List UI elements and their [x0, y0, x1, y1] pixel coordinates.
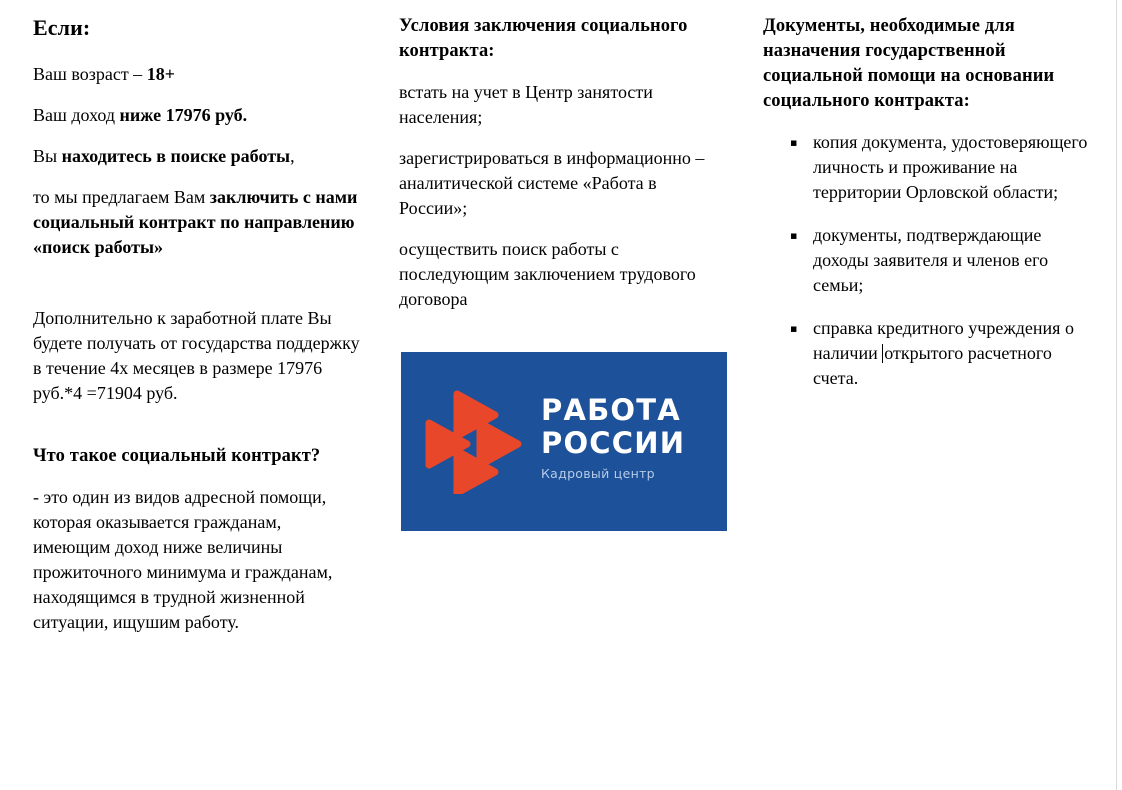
square-bullet-icon: ▪: [790, 130, 797, 155]
offer-statement: то мы предлагаем Вам заключить с нами со…: [33, 185, 363, 260]
term-item-3: осуществить поиск работы с последующим з…: [399, 237, 729, 312]
conditions-heading: Если:: [33, 14, 363, 42]
condition-income-value: ниже 17976 руб.: [120, 105, 248, 125]
column-conditions: Если: Ваш возраст – 18+ Ваш доход ниже 1…: [33, 14, 363, 635]
document-item-bank-account: ▪ справка кредитного учреждения о наличи…: [763, 316, 1093, 391]
documents-heading: Документы, необходимые для назначения го…: [763, 14, 1093, 114]
condition-income: Ваш доход ниже 17976 руб.: [33, 103, 363, 128]
term-item-1: встать на учет в Центр занятости населен…: [399, 80, 729, 130]
condition-age-label: Ваш возраст –: [33, 64, 147, 84]
document-item-income: ▪ документы, подтверждающие доходы заяви…: [763, 223, 1093, 298]
logo-line-rabota: РАБОТА: [541, 394, 721, 427]
logo-subtitle: Кадровый центр: [541, 466, 721, 482]
condition-age-value: 18+: [147, 64, 175, 84]
condition-jobsearch-value: находитесь в поиске работы: [62, 146, 291, 166]
documents-list: ▪ копия документа, удостоверяющего лично…: [763, 130, 1093, 391]
rabota-rossii-triangles-icon: [423, 390, 527, 494]
condition-age: Ваш возраст – 18+: [33, 62, 363, 87]
square-bullet-icon: ▪: [790, 223, 797, 248]
logo-line-rossii: РОССИИ: [541, 427, 721, 460]
condition-income-label: Ваш доход: [33, 105, 120, 125]
document-item-text: копия документа, удостоверяющего личност…: [813, 132, 1087, 202]
slide-canvas: Если: Ваш возраст – 18+ Ваш доход ниже 1…: [0, 0, 1122, 790]
spacer: [33, 276, 363, 306]
document-item-identity: ▪ копия документа, удостоверяющего лично…: [763, 130, 1093, 205]
document-item-text: документы, подтверждающие доходы заявите…: [813, 225, 1048, 295]
term-item-2: зарегистрироваться в информационно – ана…: [399, 146, 729, 221]
spacer: [33, 422, 363, 444]
page-edge-divider: [1116, 0, 1117, 790]
terms-heading: Условия заключения социального контракта…: [399, 14, 729, 64]
what-is-social-contract-paragraph: - это один из видов адресной помощи, кот…: [33, 485, 363, 635]
column-documents: Документы, необходимые для назначения го…: [763, 14, 1093, 391]
condition-jobsearch-label: Вы: [33, 146, 62, 166]
rabota-rossii-logo: РАБОТА РОССИИ Кадровый центр: [401, 352, 727, 531]
condition-jobsearch: Вы находитесь в поиске работы,: [33, 144, 363, 169]
condition-jobsearch-suffix: ,: [290, 146, 295, 166]
square-bullet-icon: ▪: [790, 316, 797, 341]
what-is-social-contract-heading: Что такое социальный контракт?: [33, 444, 363, 469]
column-terms: Условия заключения социального контракта…: [399, 14, 729, 312]
offer-statement-lead: то мы предлагаем Вам: [33, 187, 210, 207]
support-amount-paragraph: Дополнительно к заработной плате Вы буде…: [33, 306, 363, 406]
rabota-rossii-wordmark: РАБОТА РОССИИ Кадровый центр: [541, 394, 721, 482]
